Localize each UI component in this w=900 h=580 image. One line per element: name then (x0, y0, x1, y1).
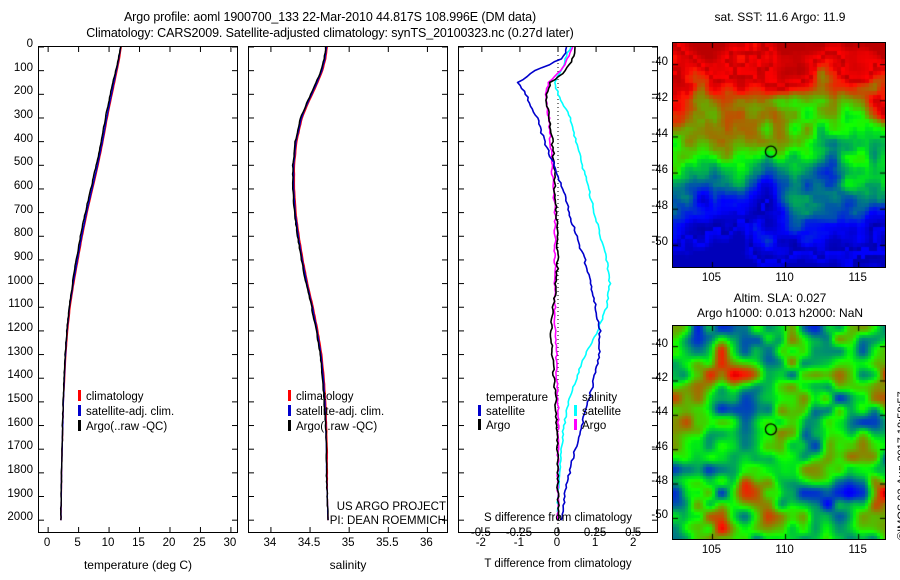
axis-tick-label: 1800 (0, 464, 33, 476)
axis-tick-label: 1500 (0, 393, 33, 405)
legend-swatch-climatology-2 (288, 390, 291, 401)
legend-item-satellite-adj-2: satellite-adj. clim. (288, 405, 384, 418)
page-title-line2: Climatology: CARS2009. Satellite-adjuste… (0, 26, 660, 40)
page-title-line1: Argo profile: aoml 1900700_133 22-Mar-20… (0, 10, 660, 24)
axis-tick-label: 36 (406, 537, 446, 549)
axis-tick-label: -42 (636, 92, 668, 104)
legend-header-temperature: temperature (478, 392, 548, 404)
legend-label-sal-argo: Argo (582, 420, 606, 432)
sla-map-title-line1: Altim. SLA: 0.027 (668, 291, 892, 305)
axis-tick-label: 0 (33, 537, 61, 549)
axis-tick-label: -40 (636, 56, 668, 68)
axis-tick-label: -50 (636, 236, 668, 248)
axis-tick-label: -48 (636, 200, 668, 212)
axis-tick-label: -50 (636, 509, 668, 521)
axis-tick-label: 34.5 (289, 537, 329, 549)
legend-item-sal-satellite: satellite (574, 405, 621, 418)
legend-item-satellite-adj: satellite-adj. clim. (78, 405, 174, 418)
axis-tick-label: -48 (636, 475, 668, 487)
axis-tick-label: 20 (155, 537, 183, 549)
legend-item-temp-argo: Argo (478, 419, 548, 432)
axis-tick-label: 1600 (0, 417, 33, 429)
axis-tick-label: 35 (328, 537, 368, 549)
axis-tick-label: -46 (636, 164, 668, 176)
axis-tick-label: -44 (636, 406, 668, 418)
axis-tick-label: 1400 (0, 369, 33, 381)
legend-header-salinity: salinity (574, 392, 621, 404)
legend-item-climatology-2: climatology (288, 390, 384, 403)
axis-tick-label: 1000 (0, 275, 33, 287)
axis-tick-label: 1700 (0, 440, 33, 452)
axis-tick-label: 5 (64, 537, 92, 549)
legend-label-argo: Argo(..raw -QC) (86, 421, 167, 433)
axis-tick-label: 400 (0, 133, 33, 145)
difference-legend-temperature: temperature satellite Argo (478, 392, 548, 432)
temperature-profile-svg (39, 47, 237, 532)
legend-swatch-climatology (78, 390, 81, 401)
axis-tick-label: 700 (0, 204, 33, 216)
legend-label-satellite-adj: satellite-adj. clim. (86, 406, 174, 418)
axis-tick-label: 0 (0, 38, 33, 50)
axis-tick-label: 500 (0, 156, 33, 168)
axis-tick-label: 30 (216, 537, 244, 549)
axis-tick-label: 1900 (0, 488, 33, 500)
project-annotation-line1: US ARGO PROJECT (248, 501, 446, 513)
sst-map (672, 42, 886, 268)
legend-item-climatology: climatology (78, 390, 174, 403)
legend-label-climatology: climatology (86, 391, 144, 403)
legend-swatch-temp-argo (478, 419, 481, 430)
axis-tick-label: -44 (636, 128, 668, 140)
sla-map (672, 325, 886, 540)
axis-tick-label: 2 (617, 537, 649, 549)
legend-swatch-satellite-adj-2 (288, 405, 291, 416)
axis-tick-label: -42 (636, 372, 668, 384)
difference-temperature-axis-label: T difference from climatology (458, 558, 658, 570)
temperature-axis-label: temperature (deg C) (38, 558, 238, 572)
legend-swatch-temp-satellite (478, 405, 481, 416)
salinity-legend: climatology satellite-adj. clim. Argo(..… (288, 390, 384, 433)
copyright-text: ©IMOS 02-Aug-2017 18:58:57 (896, 391, 900, 540)
sst-map-canvas (673, 43, 885, 267)
sla-map-canvas (673, 326, 885, 539)
axis-tick-label: 35.5 (367, 537, 407, 549)
axis-tick-label: 0 (541, 537, 573, 549)
salinity-profile-svg (249, 47, 447, 532)
axis-tick-label: 10 (94, 537, 122, 549)
temperature-legend: climatology satellite-adj. clim. Argo(..… (78, 390, 174, 433)
axis-tick-label: 1200 (0, 322, 33, 334)
legend-label-climatology-2: climatology (296, 391, 354, 403)
legend-label-temp-argo: Argo (486, 420, 510, 432)
legend-item-argo: Argo(..raw -QC) (78, 420, 174, 433)
legend-swatch-satellite-adj (78, 405, 81, 416)
legend-label-argo-2: Argo(..raw -QC) (296, 421, 377, 433)
axis-tick-label: -46 (636, 441, 668, 453)
axis-tick-label: 34 (250, 537, 290, 549)
legend-item-temp-satellite: satellite (478, 405, 548, 418)
axis-tick-label: 115 (838, 544, 878, 556)
legend-label-satellite-adj-2: satellite-adj. clim. (296, 406, 384, 418)
axis-tick-label: 100 (0, 62, 33, 74)
legend-swatch-argo-2 (288, 420, 291, 431)
difference-profile-svg (459, 47, 657, 532)
difference-profile-plot (458, 46, 658, 533)
axis-tick-label: 800 (0, 227, 33, 239)
salinity-axis-label: salinity (248, 558, 448, 572)
axis-tick-label: 900 (0, 251, 33, 263)
legend-label-sal-satellite: satellite (582, 406, 621, 418)
axis-tick-label: 1300 (0, 346, 33, 358)
project-annotation-line2: PI: DEAN ROEMMICH (248, 515, 446, 527)
axis-tick-label: 1 (579, 537, 611, 549)
difference-salinity-axis-label: S difference from climatology (458, 512, 658, 524)
axis-tick-label: 110 (765, 544, 805, 556)
axis-tick-label: 15 (125, 537, 153, 549)
legend-swatch-sal-argo (574, 419, 577, 430)
axis-tick-label: 105 (691, 272, 731, 284)
axis-tick-label: 25 (185, 537, 213, 549)
salinity-profile-plot (248, 46, 448, 533)
legend-item-sal-argo: Argo (574, 419, 621, 432)
difference-legend-salinity: salinity satellite Argo (574, 392, 621, 432)
axis-tick-label: -1 (503, 537, 535, 549)
temperature-profile-plot (38, 46, 238, 533)
axis-tick-label: 105 (691, 544, 731, 556)
axis-tick-label: 200 (0, 85, 33, 97)
axis-tick-label: 2000 (0, 511, 33, 523)
legend-item-argo-2: Argo(..raw -QC) (288, 420, 384, 433)
sla-map-title-line2: Argo h1000: 0.013 h2000: NaN (660, 306, 900, 320)
axis-tick-label: -40 (636, 338, 668, 350)
legend-label-temp-satellite: satellite (486, 406, 525, 418)
axis-tick-label: 110 (765, 272, 805, 284)
axis-tick-label: 115 (838, 272, 878, 284)
axis-tick-label: 1100 (0, 298, 33, 310)
axis-tick-label: 600 (0, 180, 33, 192)
legend-swatch-sal-satellite (574, 405, 577, 416)
axis-tick-label: -2 (465, 537, 497, 549)
axis-tick-label: 300 (0, 109, 33, 121)
legend-swatch-argo (78, 420, 81, 431)
sst-map-title: sat. SST: 11.6 Argo: 11.9 (668, 10, 892, 24)
